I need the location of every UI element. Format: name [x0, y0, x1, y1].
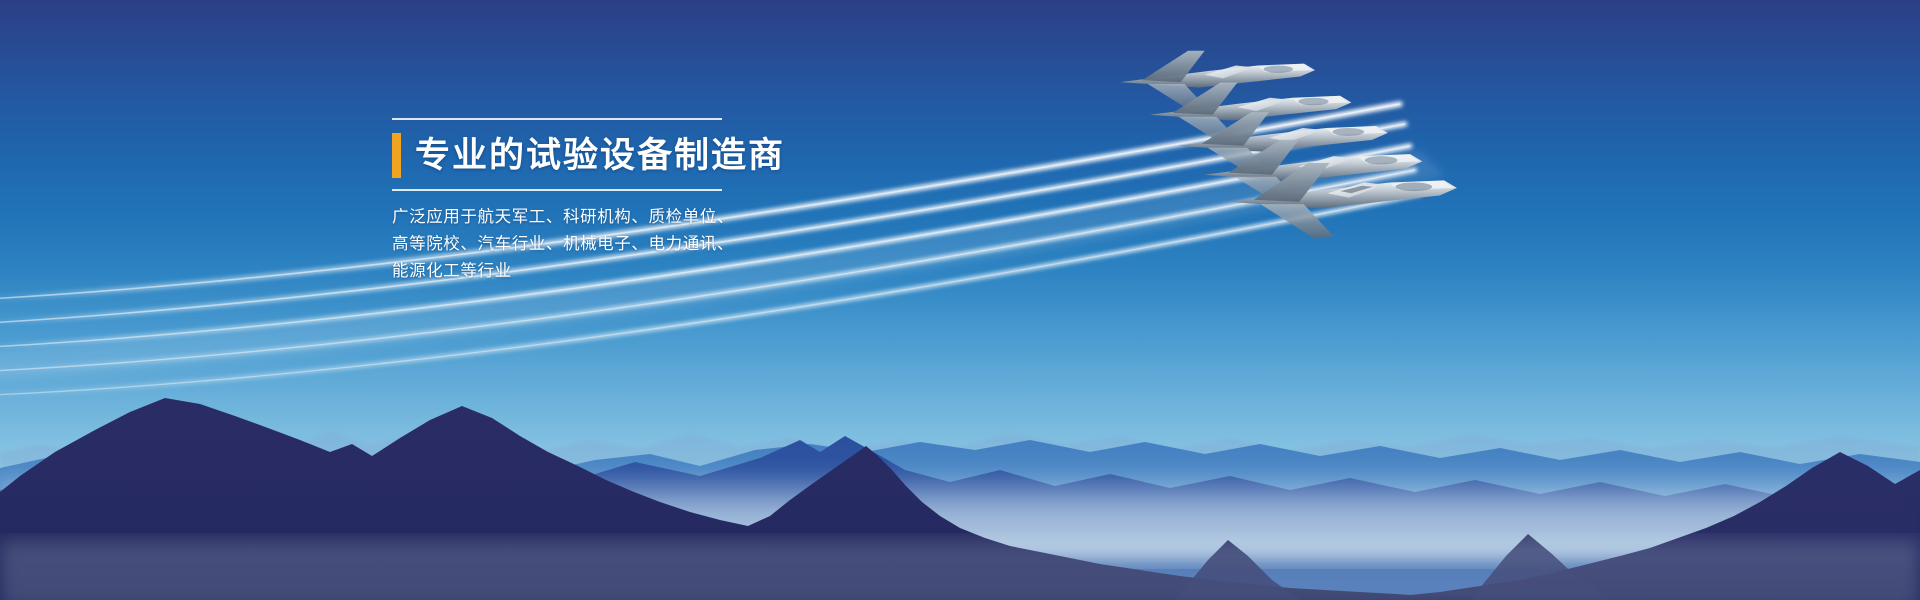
title-row: 专业的试验设备制造商: [392, 126, 952, 184]
divider-bottom: [392, 189, 722, 191]
hero-banner: 专业的试验设备制造商 广泛应用于航天军工、科研机构、质检单位、 高等院校、汽车行…: [0, 0, 1920, 600]
subtitle-line-2: 高等院校、汽车行业、机械电子、电力通讯、: [392, 231, 952, 258]
divider-top: [392, 118, 722, 120]
subtitle-line-1: 广泛应用于航天军工、科研机构、质检单位、: [392, 204, 952, 231]
hero-text-block: 专业的试验设备制造商 广泛应用于航天军工、科研机构、质检单位、 高等院校、汽车行…: [392, 118, 952, 285]
orange-accent-bar: [392, 133, 401, 178]
subtitle-block: 广泛应用于航天军工、科研机构、质检单位、 高等院校、汽车行业、机械电子、电力通讯…: [392, 204, 952, 285]
base-mist: [0, 540, 1920, 600]
mountain-layer: [0, 0, 1920, 600]
page-title: 专业的试验设备制造商: [415, 138, 785, 173]
subtitle-line-3: 能源化工等行业: [392, 258, 952, 285]
